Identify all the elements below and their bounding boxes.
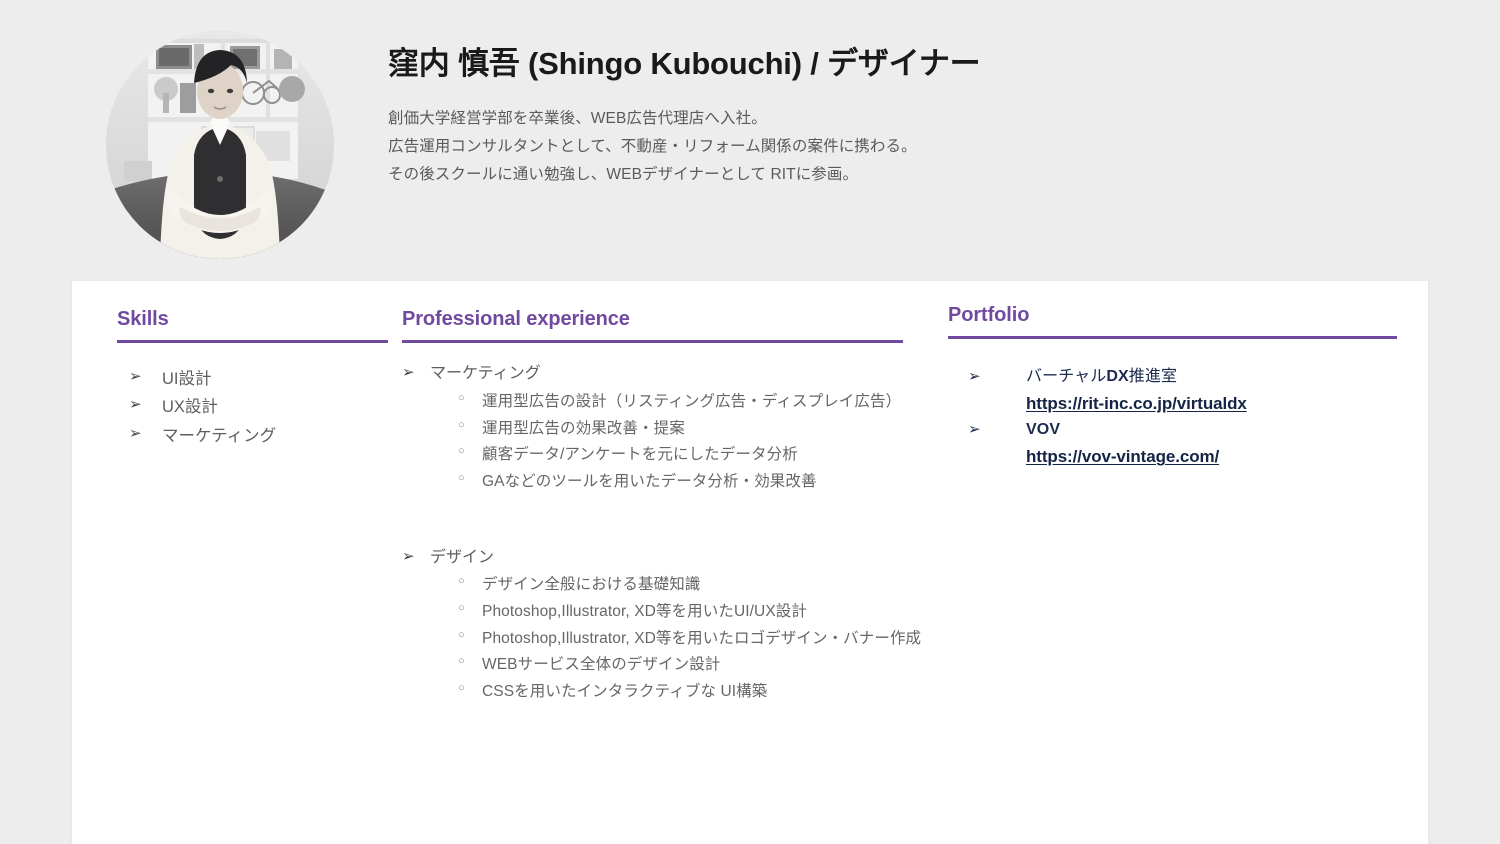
arrow-bullet-icon: ➢ [129,421,142,447]
skills-column: Skills ➢ UI設計 ➢ UX設計 ➢ マーケティング [117,281,402,450]
arrow-bullet-icon: ➢ [968,418,981,442]
experience-item: Photoshop,Illustrator, XD等を用いたロゴデザイン・バナー… [482,630,921,647]
profile-header: 窪内 慎吾 (Shingo Kubouchi) / デザイナー 創価大学経営学部… [0,0,1500,281]
list-item: ○ Photoshop,Illustrator, XD等を用いたロゴデザイン・バ… [456,626,942,653]
portfolio-label: バーチャルDX推進室 [1026,364,1413,390]
portfolio-heading-rule [948,336,1397,339]
bio-line: その後スクールに通い勉強し、WEBデザイナーとして RITに参画。 [388,161,1438,189]
circle-bullet-icon: ○ [458,599,465,619]
portfolio-list: ➢ バーチャルDX推進室 https://rit-inc.co.jp/virtu… [948,364,1413,471]
experience-group-design: ➢ デザイン ○ デザイン全般における基礎知識 ○ Photoshop,Illu… [402,545,942,706]
list-item: ○ デザイン全般における基礎知識 [456,572,942,599]
circle-bullet-icon: ○ [458,416,465,436]
portfolio-heading: Portfolio [948,304,1413,327]
experience-group-marketing: ➢ マーケティング ○ 運用型広告の設計（リスティング広告・ディスプレイ広告） … [402,361,942,496]
portfolio-column: Portfolio ➢ バーチャルDX推進室 https://rit-inc.c… [948,281,1413,471]
experience-item: 運用型広告の効果改善・提案 [482,420,685,437]
portfolio-link[interactable]: https://rit-inc.co.jp/virtualdx [1026,390,1413,418]
circle-bullet-icon: ○ [458,572,465,592]
arrow-bullet-icon: ➢ [129,364,142,390]
header-text-block: 窪内 慎吾 (Shingo Kubouchi) / デザイナー 創価大学経営学部… [388,44,1438,189]
circle-bullet-icon: ○ [458,652,465,672]
bio-block: 創価大学経営学部を卒業後、WEB広告代理店へ入社。 広告運用コンサルタントとして… [388,105,1438,190]
skill-label: UI設計 [162,370,212,388]
portfolio-link[interactable]: https://vov-vintage.com/ [1026,443,1413,471]
portfolio-label-bold: DX [1106,368,1128,385]
experience-item: CSSを用いたインタラクティブな UI構築 [482,683,767,700]
arrow-bullet-icon: ➢ [402,544,415,569]
circle-bullet-icon: ○ [458,389,465,409]
list-item: ○ WEBサービス全体のデザイン設計 [456,652,942,679]
portrait-photo-icon [106,31,334,259]
portfolio-label-prefix: バーチャル [1026,368,1106,385]
list-item: ➢ デザイン ○ デザイン全般における基礎知識 ○ Photoshop,Illu… [402,545,942,706]
arrow-bullet-icon: ➢ [968,365,981,389]
experience-column: Professional experience ➢ マーケティング ○ 運用型広… [402,281,942,706]
list-item: ○ Photoshop,Illustrator, XD等を用いたUI/UX設計 [456,599,942,626]
list-item: ○ CSSを用いたインタラクティブな UI構築 [456,679,942,706]
circle-bullet-icon: ○ [458,469,465,489]
list-item: ○ GAなどのツールを用いたデータ分析・効果改善 [456,469,942,496]
list-item: ➢ UX設計 [117,393,402,421]
experience-item: デザイン全般における基礎知識 [482,576,700,593]
experience-group-title: デザイン [430,549,494,566]
arrow-bullet-icon: ➢ [129,392,142,418]
skills-heading: Skills [117,308,402,331]
content-card: Skills ➢ UI設計 ➢ UX設計 ➢ マーケティング Professio… [72,281,1428,844]
group-spacer [402,496,942,527]
page-title: 窪内 慎吾 (Shingo Kubouchi) / デザイナー [388,44,1438,84]
arrow-bullet-icon: ➢ [402,360,415,385]
list-item: ○ 運用型広告の効果改善・提案 [456,416,942,443]
experience-item: GAなどのツールを用いたデータ分析・効果改善 [482,473,817,490]
experience-sublist: ○ 運用型広告の設計（リスティング広告・ディスプレイ広告） ○ 運用型広告の効果… [456,389,942,496]
skills-heading-rule [117,340,388,343]
list-item: ○ 運用型広告の設計（リスティング広告・ディスプレイ広告） [456,389,942,416]
circle-bullet-icon: ○ [458,679,465,699]
list-item: ➢ マーケティング [117,422,402,450]
experience-item: 顧客データ/アンケートを元にしたデータ分析 [482,446,798,463]
bio-line: 広告運用コンサルタントとして、不動産・リフォーム関係の案件に携わる。 [388,133,1438,161]
experience-item: Photoshop,Illustrator, XD等を用いたUI/UX設計 [482,603,807,620]
skills-list: ➢ UI設計 ➢ UX設計 ➢ マーケティング [117,365,402,450]
experience-group-title: マーケティング [430,365,541,382]
list-item: ➢ VOV https://vov-vintage.com/ [948,417,1413,470]
list-item: ➢ バーチャルDX推進室 https://rit-inc.co.jp/virtu… [948,364,1413,417]
skill-label: マーケティング [162,427,276,445]
portfolio-label: VOV [1026,417,1413,443]
experience-item: 運用型広告の設計（リスティング広告・ディスプレイ広告） [482,393,901,410]
experience-heading-rule [402,340,903,343]
experience-heading: Professional experience [402,308,942,331]
portfolio-label-suffix: 推進室 [1129,368,1177,385]
avatar [106,31,334,259]
list-item: ○ 顧客データ/アンケートを元にしたデータ分析 [456,442,942,469]
circle-bullet-icon: ○ [458,442,465,462]
list-item: ➢ UI設計 [117,365,402,393]
list-item: ➢ マーケティング ○ 運用型広告の設計（リスティング広告・ディスプレイ広告） … [402,361,942,496]
skill-label: UX設計 [162,398,218,416]
bio-line: 創価大学経営学部を卒業後、WEB広告代理店へ入社。 [388,105,1438,133]
portfolio-label-bold: VOV [1026,421,1060,438]
experience-item: WEBサービス全体のデザイン設計 [482,656,720,673]
experience-sublist: ○ デザイン全般における基礎知識 ○ Photoshop,Illustrator… [456,572,942,705]
circle-bullet-icon: ○ [458,626,465,646]
